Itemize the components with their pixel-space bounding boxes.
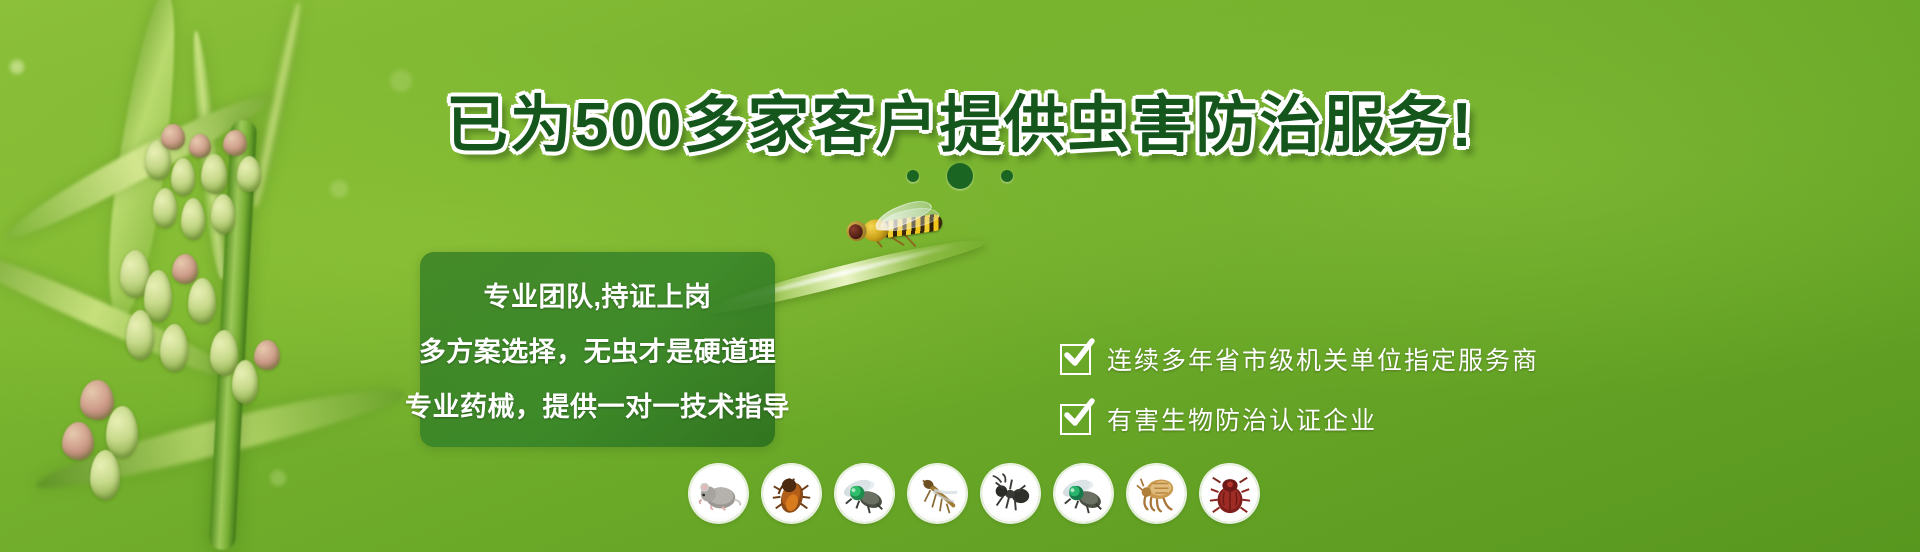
mosquito-icon bbox=[909, 465, 966, 522]
pest-circle-mouse[interactable] bbox=[690, 465, 747, 522]
pest-control-banner: 已为500多家客户提供虫害防治服务! 专业团队,持证上岗 多方案选择，无虫才是硬… bbox=[0, 0, 1920, 552]
fly-icon bbox=[836, 465, 893, 522]
checkbox-checked-icon bbox=[1060, 344, 1091, 375]
bedbug-icon bbox=[1201, 465, 1258, 522]
dot-small-right bbox=[1001, 170, 1013, 182]
checklist-label-2: 有害生物防治认证企业 bbox=[1107, 401, 1377, 437]
list-item: 有害生物防治认证企业 bbox=[1060, 395, 1539, 443]
panel-line-2: 多方案选择，无虫才是硬道理 bbox=[419, 330, 777, 369]
mouse-icon bbox=[690, 465, 747, 522]
pest-circle-blowfly[interactable] bbox=[1055, 465, 1112, 522]
pest-icon-row bbox=[690, 465, 1258, 522]
ant-icon bbox=[982, 465, 1039, 522]
pest-circle-ant[interactable] bbox=[982, 465, 1039, 522]
checklist-label-1: 连续多年省市级机关单位指定服务商 bbox=[1107, 341, 1539, 377]
decorative-dots bbox=[0, 163, 1920, 189]
dot-small-left bbox=[907, 170, 919, 182]
dot-large-center bbox=[947, 163, 973, 189]
pest-circle-flea[interactable] bbox=[1128, 465, 1185, 522]
highlights-panel-text: 专业团队,持证上岗 多方案选择，无虫才是硬道理 专业药械，提供一对一技术指导 bbox=[420, 252, 775, 447]
cockroach-icon bbox=[763, 465, 820, 522]
blowfly-icon bbox=[1055, 465, 1112, 522]
credentials-checklist: 连续多年省市级机关单位指定服务商 有害生物防治认证企业 bbox=[1060, 335, 1539, 455]
checkbox-checked-icon bbox=[1060, 404, 1091, 435]
flea-icon bbox=[1128, 465, 1185, 522]
list-item: 连续多年省市级机关单位指定服务商 bbox=[1060, 335, 1539, 383]
pest-circle-mosquito[interactable] bbox=[909, 465, 966, 522]
pest-circle-fly[interactable] bbox=[836, 465, 893, 522]
panel-line-3: 专业药械，提供一对一技术指导 bbox=[405, 385, 790, 424]
banner-headline: 已为500多家客户提供虫害防治服务! bbox=[0, 74, 1920, 164]
pest-circle-cockroach[interactable] bbox=[763, 465, 820, 522]
pest-circle-bedbug[interactable] bbox=[1201, 465, 1258, 522]
headline-text: 已为500多家客户提供虫害防治服务! bbox=[446, 74, 1474, 164]
panel-line-1: 专业团队,持证上岗 bbox=[483, 275, 711, 314]
